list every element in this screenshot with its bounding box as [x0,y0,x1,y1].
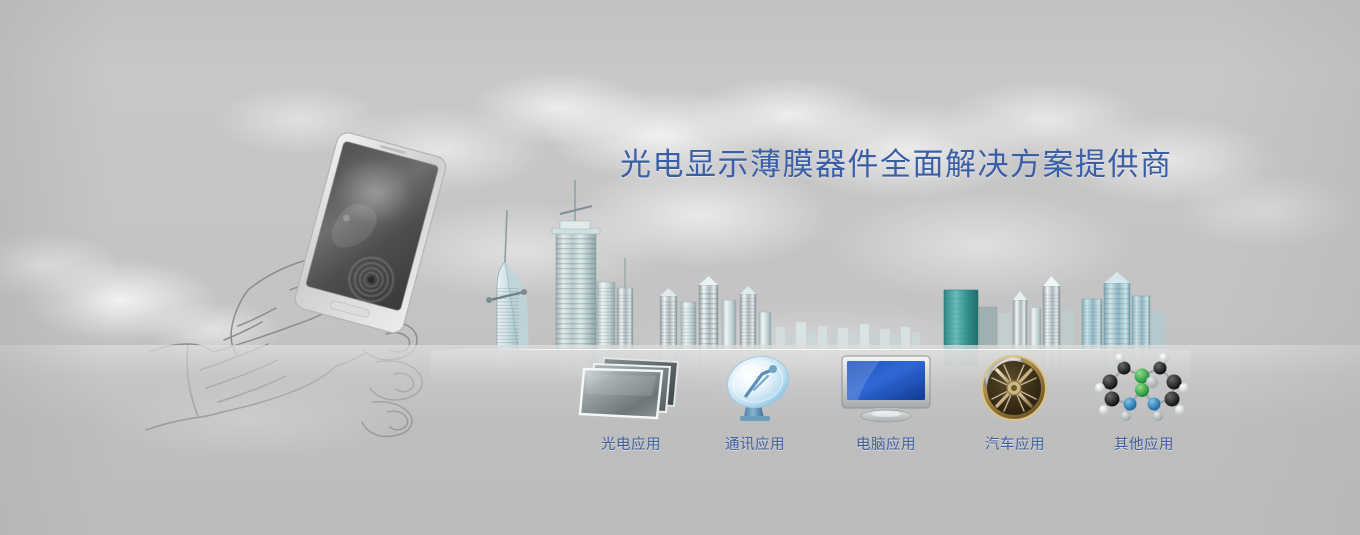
main-tower [552,180,636,350]
application-icon-row: 光电应用 [566,352,1206,454]
sail-tower [486,210,529,350]
application-item-communication[interactable]: 通讯应用 [694,352,822,454]
car-wheel-rim-icon [973,352,1055,424]
glass-film-panels-icon [578,352,682,424]
smartphone [293,130,448,335]
molecule-model-icon [1092,352,1192,424]
hero-banner: 光电显示薄膜器件全面解决方案提供商 [0,0,1360,535]
application-item-automotive[interactable]: 汽车应用 [950,352,1078,454]
application-label: 通讯应用 [725,433,785,454]
application-label: 汽车应用 [985,433,1045,454]
midtown-cluster [660,276,771,350]
application-label: 其他应用 [1114,433,1174,454]
application-item-optoelectronic[interactable]: 光电应用 [566,352,694,454]
application-label: 电脑应用 [856,433,916,454]
computer-monitor-icon [836,352,936,424]
application-label: 光电应用 [601,433,661,454]
page-title: 光电显示薄膜器件全面解决方案提供商 [620,139,1173,184]
application-item-computer[interactable]: 电脑应用 [822,352,950,454]
application-item-other[interactable]: 其他应用 [1078,352,1206,454]
right-cluster [944,272,1165,350]
satellite-dish-icon [710,352,806,424]
horizon-line [430,349,1190,350]
